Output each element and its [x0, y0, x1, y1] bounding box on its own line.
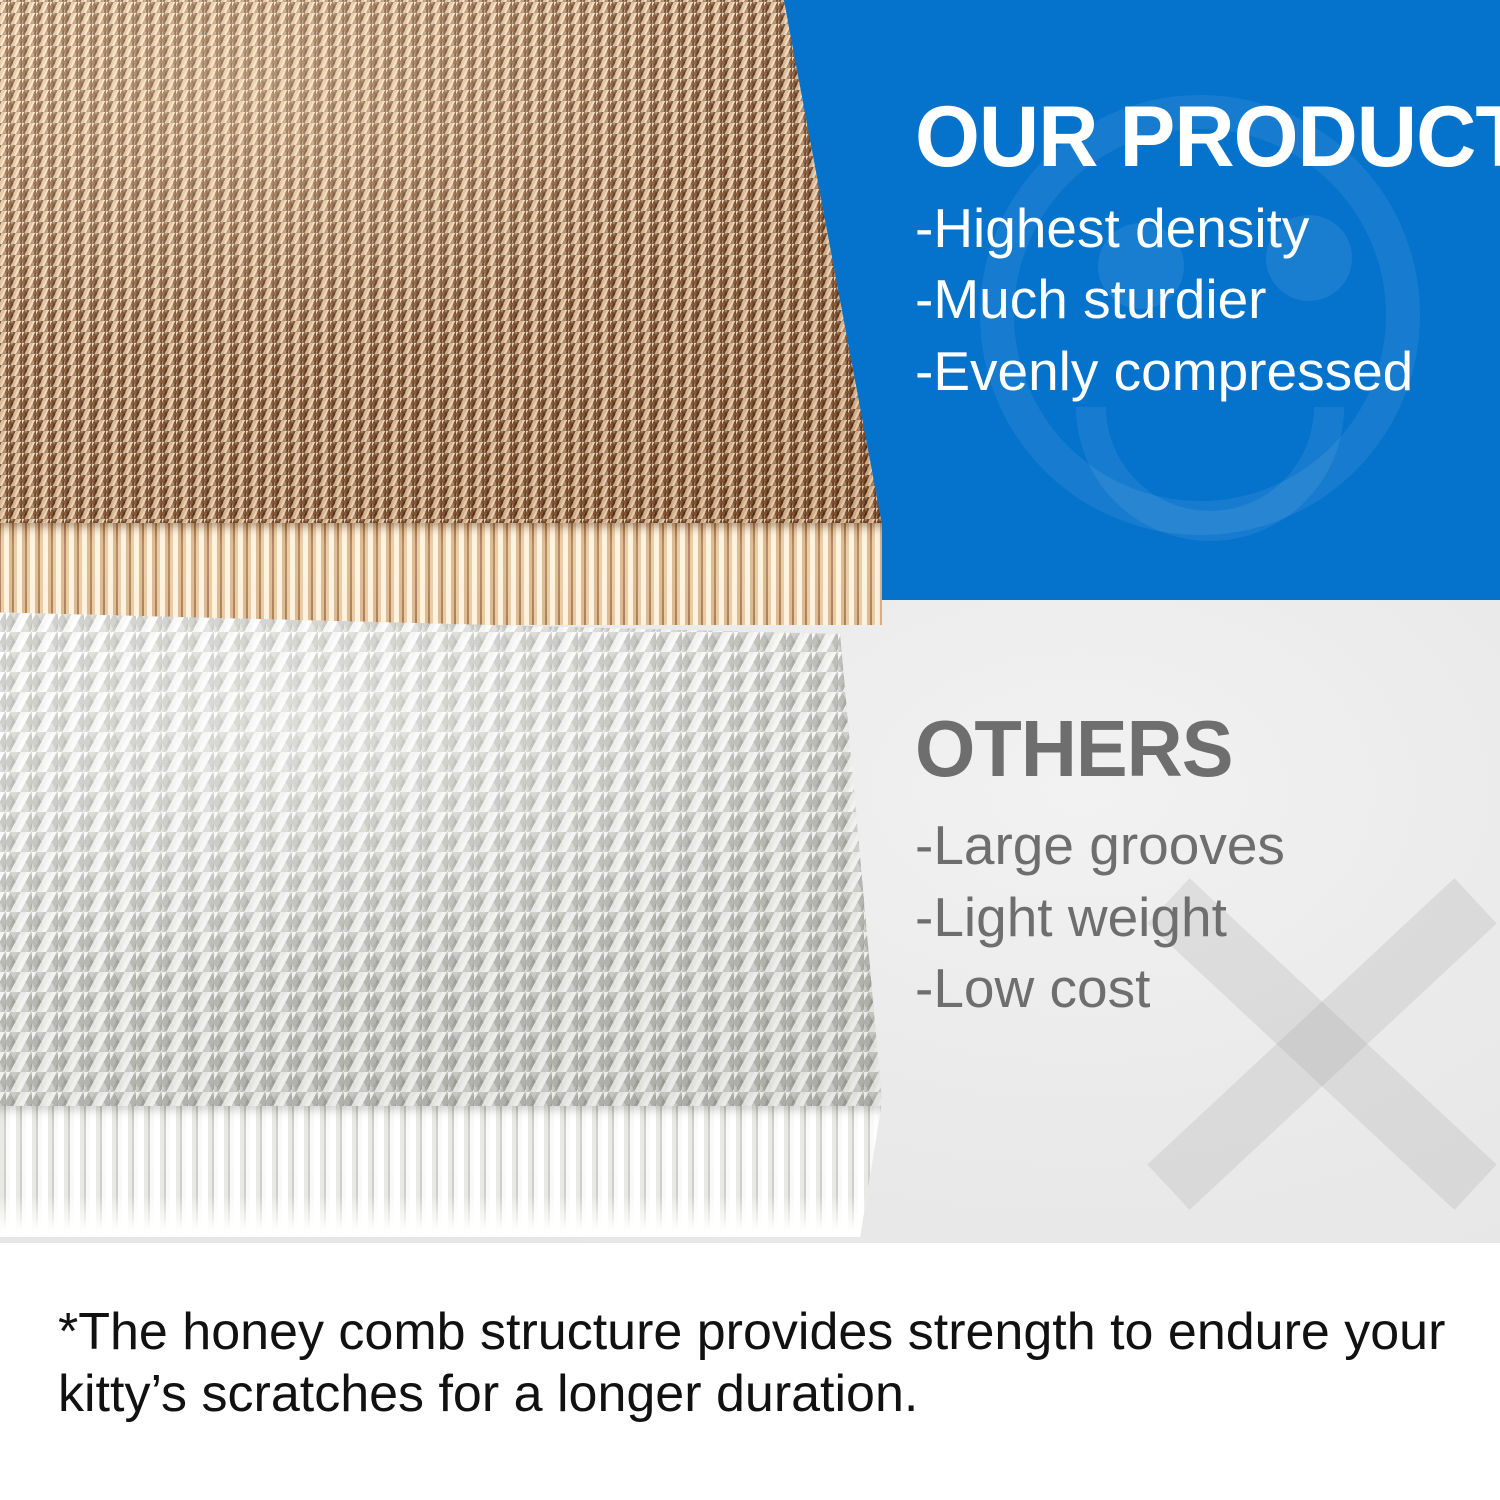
white-pad-top-surface — [0, 612, 885, 1112]
our-product-text-block: OUR PRODUCT -Highest density -Much sturd… — [915, 96, 1475, 407]
comparison-infographic: OUR PRODUCT -Highest density -Much sturd… — [0, 0, 1500, 1500]
footer-area: *The honey comb structure provides stren… — [0, 1243, 1500, 1500]
our-product-bullet-1: -Highest density — [915, 193, 1475, 265]
others-bullet-3: -Low cost — [915, 953, 1475, 1025]
our-product-bullet-3: -Evenly compressed — [915, 336, 1475, 408]
others-bullet-2: -Light weight — [915, 882, 1475, 954]
white-pad-front-edge — [0, 1106, 885, 1238]
brown-honeycomb-pad-photo — [0, 0, 885, 630]
footnote-text: *The honey comb structure provides stren… — [58, 1301, 1448, 1426]
brown-pad-front-edge — [0, 523, 885, 631]
our-product-bullet-list: -Highest density -Much sturdier -Evenly … — [915, 193, 1475, 408]
brown-pad-top-surface — [0, 0, 885, 528]
others-text-block: OTHERS -Large grooves -Light weight -Low… — [915, 710, 1475, 1025]
our-product-bullet-2: -Much sturdier — [915, 264, 1475, 336]
our-product-heading: OUR PRODUCT — [915, 96, 1458, 179]
white-honeycomb-pad-photo — [0, 612, 885, 1243]
others-bullet-1: -Large grooves — [915, 810, 1475, 882]
product-comparison-photo-area: OUR PRODUCT -Highest density -Much sturd… — [0, 0, 1500, 1243]
others-heading: OTHERS — [915, 710, 1458, 788]
others-bullet-list: -Large grooves -Light weight -Low cost — [915, 810, 1475, 1025]
